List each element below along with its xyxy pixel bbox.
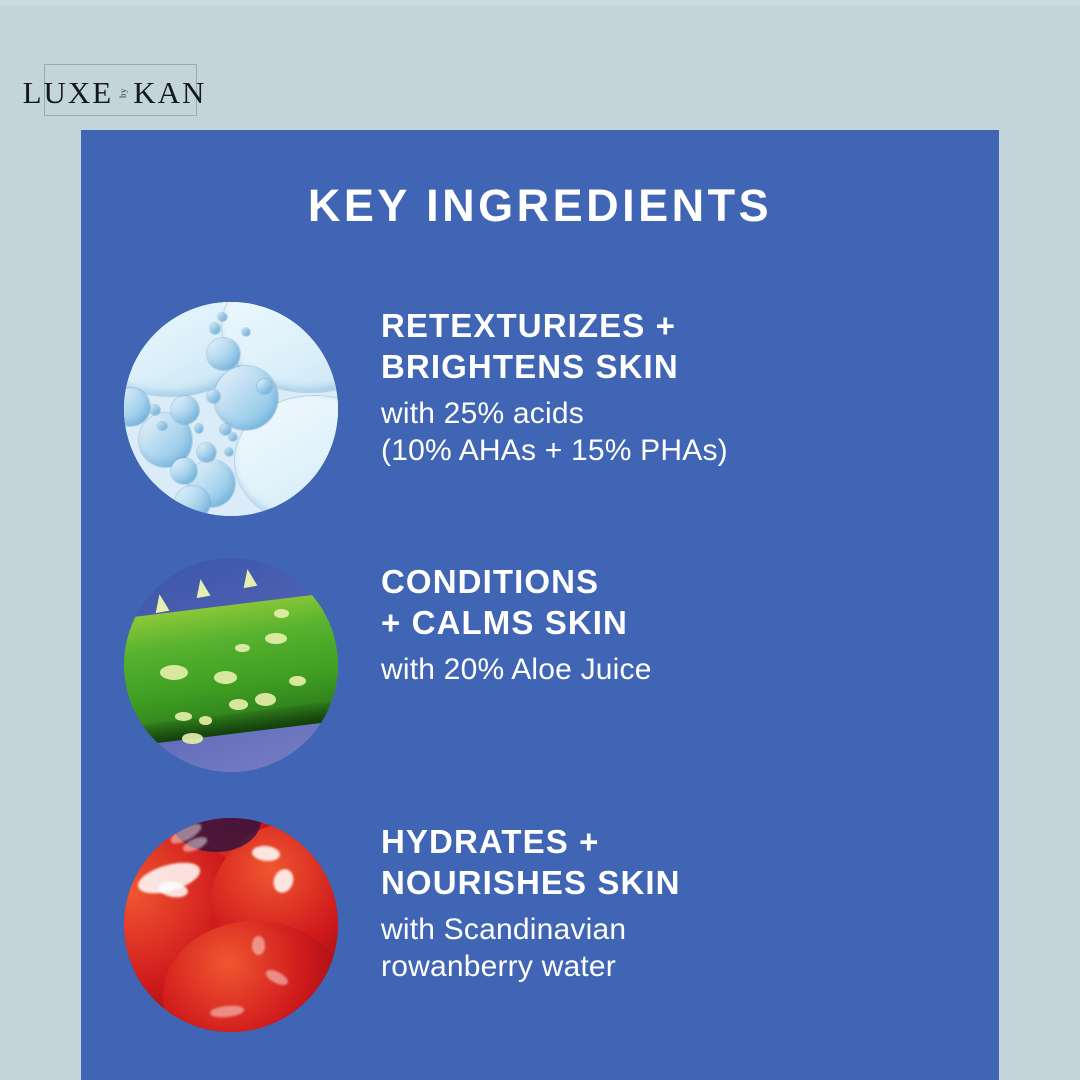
ingredient-list: RETEXTURIZES + BRIGHTENS SKIN with 25% a… (81, 300, 999, 1064)
brand-logo[interactable]: LUXE by KAN (12, 58, 217, 128)
ingredient-subline: with 20% Aloe Juice (381, 651, 999, 689)
ingredient-copy: HYDRATES + NOURISHES SKIN with Scandinav… (381, 816, 999, 986)
ingredient-subline: with 25% acids (10% AHAs + 15% PHAs) (381, 395, 999, 470)
ingredient-copy: CONDITIONS + CALMS SKIN with 20% Aloe Ju… (381, 556, 999, 688)
ingredient-thumbnail-wrap (81, 300, 381, 516)
ingredient-headline: CONDITIONS + CALMS SKIN (381, 562, 999, 644)
berry-artwork (124, 818, 338, 1032)
ingredient-headline: RETEXTURIZES + BRIGHTENS SKIN (381, 306, 999, 388)
key-ingredients-panel: KEY INGREDIENTS (81, 130, 999, 1080)
ingredient-thumbnail-wrap (81, 556, 381, 772)
logo-word-luxe: LUXE (23, 75, 114, 111)
aloe-leaf-image (124, 558, 338, 772)
rowanberry-image (124, 818, 338, 1032)
infographic-canvas: LUXE by KAN KEY INGREDIENTS (0, 0, 1080, 1080)
ingredient-headline: HYDRATES + NOURISHES SKIN (381, 822, 999, 904)
list-item: HYDRATES + NOURISHES SKIN with Scandinav… (81, 816, 999, 1064)
list-item: CONDITIONS + CALMS SKIN with 20% Aloe Ju… (81, 556, 999, 804)
list-item: RETEXTURIZES + BRIGHTENS SKIN with 25% a… (81, 300, 999, 548)
top-band (0, 0, 1080, 6)
ingredient-thumbnail-wrap (81, 816, 381, 1032)
aloe-artwork (124, 558, 338, 772)
logo-word-kan: KAN (133, 75, 206, 111)
bubbles-macro-image (124, 302, 338, 516)
page-title: KEY INGREDIENTS (81, 180, 999, 232)
ingredient-subline: with Scandinavian rowanberry water (381, 911, 999, 986)
ingredient-copy: RETEXTURIZES + BRIGHTENS SKIN with 25% a… (381, 300, 999, 470)
bubbles-artwork (124, 302, 338, 516)
logo-wordmark: LUXE by KAN (12, 58, 217, 128)
logo-connector-by: by (118, 88, 128, 98)
